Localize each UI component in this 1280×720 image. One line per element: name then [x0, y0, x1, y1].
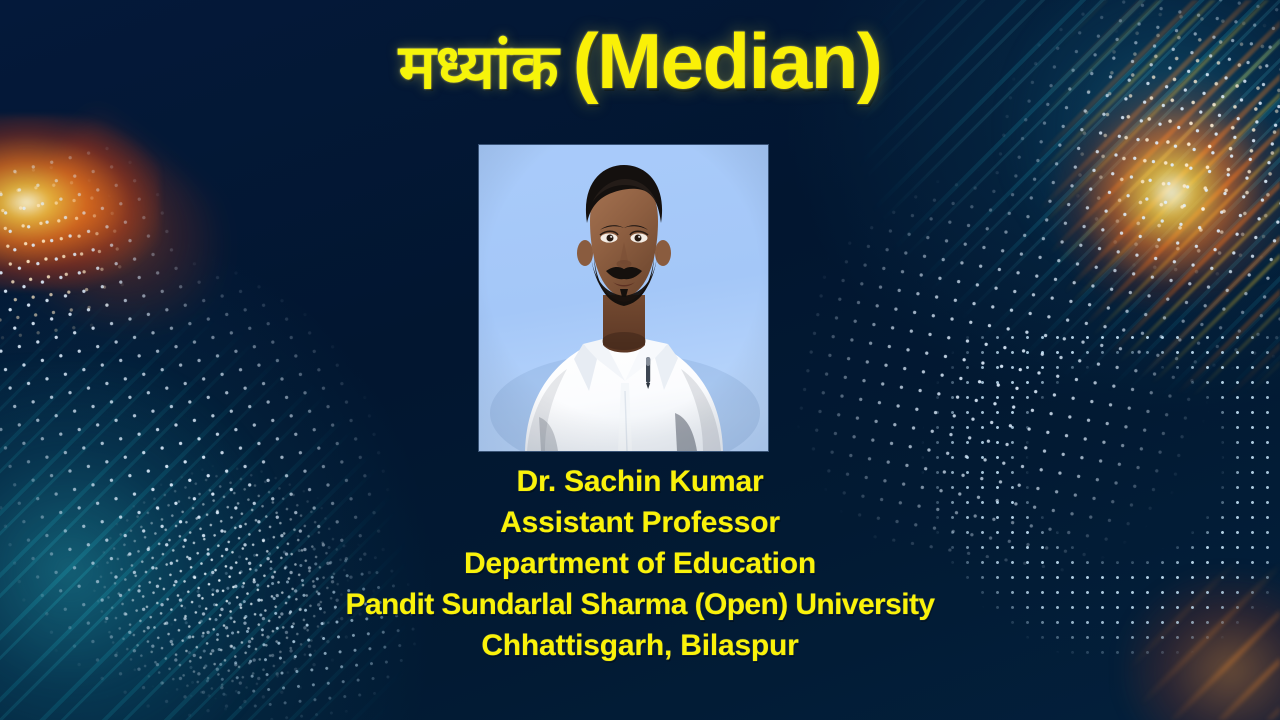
credit-line-department: Department of Education	[0, 543, 1280, 584]
credit-line-location: Chhattisgarh, Bilaspur	[0, 625, 1280, 666]
particle-dots-warm-left	[0, 130, 288, 449]
slide-title-hindi: मध्यांक	[399, 33, 559, 102]
presentation-slide: मध्यांक(Median)	[0, 0, 1280, 720]
presenter-photo	[479, 145, 768, 451]
credit-line-university: Pandit Sundarlal Sharma (Open) Universit…	[0, 584, 1280, 625]
credit-line-name: Dr. Sachin Kumar	[0, 461, 1280, 502]
credit-line-designation: Assistant Professor	[0, 502, 1280, 543]
slide-title-english: (Median)	[573, 17, 882, 105]
slide-title: मध्यांक(Median)	[0, 22, 1280, 102]
presenter-credits: Dr. Sachin Kumar Assistant Professor Dep…	[0, 461, 1280, 666]
